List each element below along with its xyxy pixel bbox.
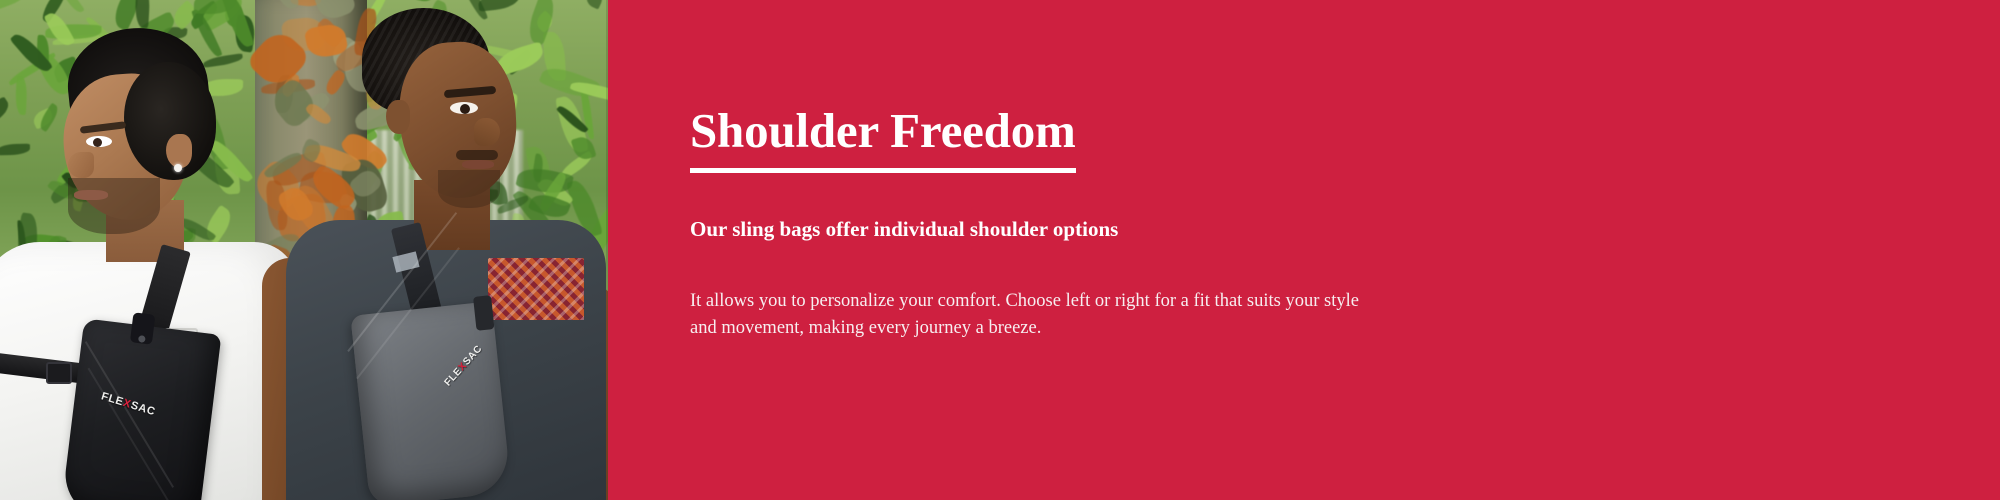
model-right: FLEXSAC <box>328 8 608 500</box>
photo-stage: FLEXSAC <box>0 0 608 500</box>
leaf <box>134 0 151 28</box>
promo-banner: FLEXSAC <box>0 0 2000 500</box>
content-panel: Shoulder Freedom Our sling bags offer in… <box>608 0 2000 500</box>
product-lifestyle-photo: FLEXSAC <box>0 0 608 500</box>
model-left-nose <box>68 152 94 178</box>
model-left-beard <box>68 178 160 234</box>
bag-seam <box>85 341 174 488</box>
model-left-waist-buckle <box>46 362 72 384</box>
flexsac-logo-suffix: SAC <box>461 343 485 367</box>
sling-bag-gray: FLEXSAC <box>350 301 511 500</box>
leaf <box>416 0 434 2</box>
model-right-pupil <box>460 104 470 114</box>
model-right-chin-shadow <box>438 170 500 208</box>
model-right-lips <box>462 160 494 169</box>
bag-seam-secondary <box>88 368 172 500</box>
body-paragraph: It allows you to personalize your comfor… <box>690 288 1380 342</box>
page-title: Shoulder Freedom <box>690 105 1076 173</box>
model-right-shirt-pocket-pattern <box>488 258 584 320</box>
sling-bag-black: FLEXSAC <box>61 318 222 500</box>
leaf <box>0 0 31 9</box>
model-left-earring <box>174 164 182 172</box>
content-inner: Shoulder Freedom Our sling bags offer in… <box>690 105 1450 342</box>
model-right-ear <box>386 100 410 134</box>
model-left-pupil <box>93 138 102 147</box>
model-left-ear <box>166 134 192 168</box>
model-right-nose <box>474 118 500 146</box>
bag-buckle <box>473 295 494 331</box>
bark-patch <box>270 0 301 12</box>
model-left: FLEXSAC <box>0 28 294 500</box>
flexsac-logo: FLEXSAC <box>443 343 485 388</box>
model-right-moustache <box>456 150 498 160</box>
model-left-lips <box>74 190 108 200</box>
flexsac-logo-suffix: SAC <box>129 399 157 418</box>
subheading: Our sling bags offer individual shoulder… <box>690 216 1450 242</box>
leaf <box>527 0 585 1</box>
leaf <box>62 0 85 15</box>
